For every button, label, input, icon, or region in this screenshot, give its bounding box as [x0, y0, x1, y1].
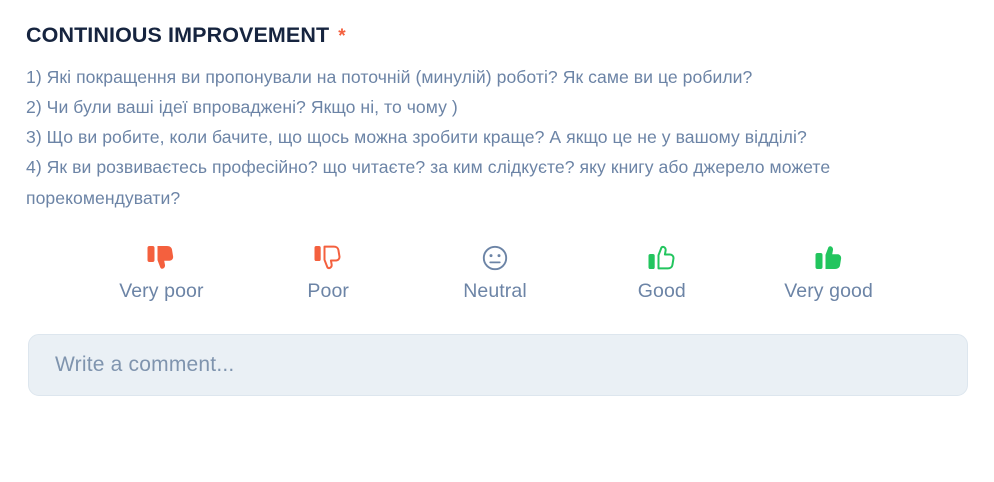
required-asterisk: * [338, 27, 346, 46]
question-line-4: 4) Як ви розвиваєтесь професійно? що чит… [26, 152, 968, 213]
rating-option-very-good[interactable]: Very good [745, 241, 912, 302]
thumbs-down-filled-icon[interactable] [146, 241, 176, 275]
rating-option-neutral[interactable]: Neutral [412, 241, 579, 302]
rating-option-good[interactable]: Good [578, 241, 745, 302]
thumbs-up-outline-icon[interactable] [647, 241, 677, 275]
question-line-2: 2) Чи були ваші ідеї впроваджені? Якщо н… [26, 92, 968, 122]
rating-label-poor: Poor [307, 282, 349, 302]
rating-label-neutral: Neutral [463, 282, 527, 302]
rating-label-very-poor: Very poor [119, 282, 203, 302]
question-description: 1) Які покращення ви пропонували на пото… [26, 62, 968, 213]
question-line-1: 1) Які покращення ви пропонували на пото… [26, 62, 968, 92]
rating-option-very-poor[interactable]: Very poor [78, 241, 245, 302]
thumbs-up-filled-icon[interactable] [814, 241, 844, 275]
survey-question-card: CONTINIOUS IMPROVEMENT * 1) Які покращен… [0, 0, 994, 482]
rating-scale: Very poor Poor Neutral [26, 241, 968, 302]
rating-option-poor[interactable]: Poor [245, 241, 412, 302]
rating-label-good: Good [638, 282, 686, 302]
question-title-text: CONTINIOUS IMPROVEMENT [26, 24, 329, 48]
comment-field-wrapper[interactable] [28, 334, 968, 396]
neutral-face-icon[interactable] [481, 241, 509, 275]
question-line-3: 3) Що ви робите, коли бачите, що щось мо… [26, 122, 968, 152]
rating-label-very-good: Very good [784, 282, 873, 302]
comment-input[interactable] [53, 352, 943, 378]
page-title: CONTINIOUS IMPROVEMENT * [26, 24, 968, 48]
thumbs-down-outline-icon[interactable] [313, 241, 343, 275]
